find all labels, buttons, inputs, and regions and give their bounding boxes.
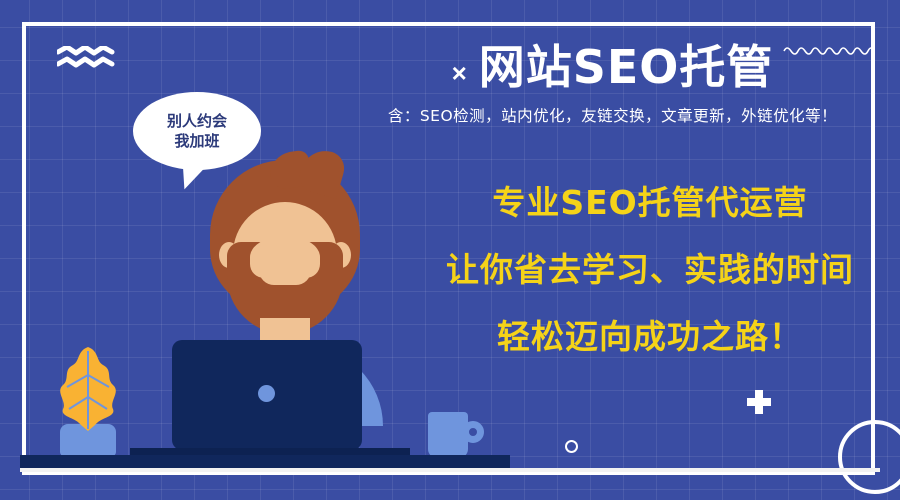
speech-bubble: 别人约会 我加班 xyxy=(133,92,261,170)
page-title: 网站SEO托管 xyxy=(479,44,774,90)
zigzag-wave-icon xyxy=(57,46,119,68)
selling-point: 专业SEO托管代运营 xyxy=(420,186,880,219)
plus-mark-icon xyxy=(747,390,771,414)
selling-points-list: 专业SEO托管代运营 让你省去学习、实践的时间 轻松迈向成功之路！ xyxy=(420,186,880,353)
desk-edge-highlight xyxy=(20,468,880,472)
subtitle-text: 含：SEO检测，站内优化，友链交换，文章更新，外链优化等！ xyxy=(340,104,885,126)
desk-surface xyxy=(20,455,510,468)
coffee-mug xyxy=(428,412,468,458)
title-bullet-mark: × xyxy=(452,60,467,86)
laptop-logo-icon xyxy=(258,385,275,402)
selling-point: 让你省去学习、实践的时间 xyxy=(420,253,880,286)
seo-promo-banner: × 网站SEO托管 含：SEO检测，站内优化，友链交换，文章更新，外链优化等！ … xyxy=(0,0,900,500)
speech-bubble-line-1: 别人约会 xyxy=(167,111,227,131)
plant-leaf-icon xyxy=(51,345,125,433)
speech-bubble-line-2: 我加班 xyxy=(174,131,219,151)
mouth xyxy=(259,270,311,285)
selling-point: 轻松迈向成功之路！ xyxy=(420,320,880,353)
small-circle-icon xyxy=(565,440,578,453)
title-row: × 网站SEO托管 xyxy=(340,44,885,90)
headline-block: × 网站SEO托管 含：SEO检测，站内优化，友链交换，文章更新，外链优化等！ xyxy=(340,44,885,126)
corner-circle-icon xyxy=(838,420,900,494)
